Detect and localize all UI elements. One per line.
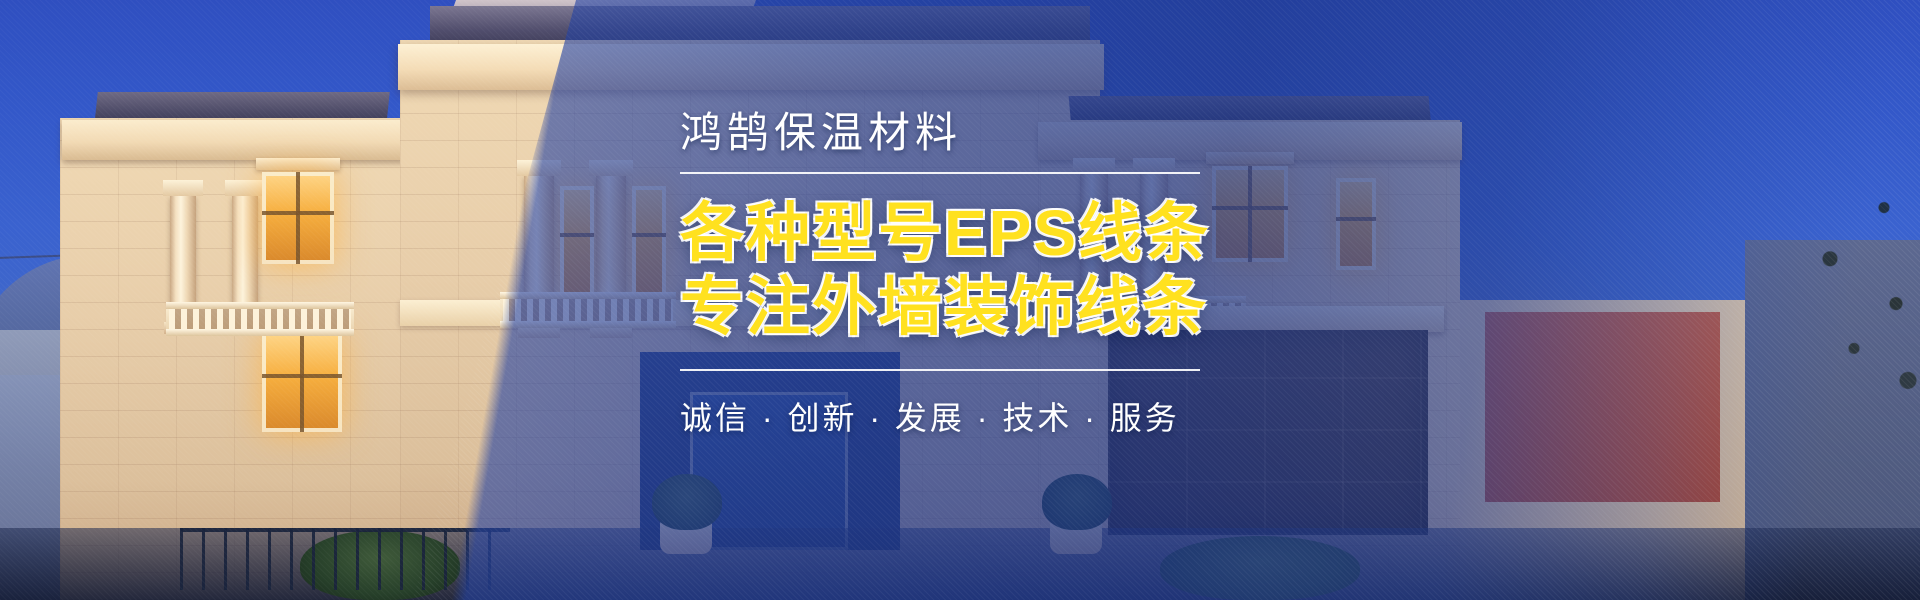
- banner-copy: 鸿鹄保温材料 各种型号EPS线条 专注外墙装饰线条 诚信 · 创新 · 发展 ·…: [680, 110, 1240, 439]
- tagline: 诚信 · 创新 · 发展 · 技术 · 服务: [680, 393, 1240, 439]
- window-mullion-vertical: [296, 172, 300, 264]
- divider-bottom: [680, 369, 1200, 371]
- window-mullion-horizontal: [262, 374, 342, 378]
- left-wing-cornice: [62, 120, 424, 160]
- balusters: [169, 309, 351, 329]
- window: [262, 332, 342, 432]
- window-mullion-vertical: [300, 332, 304, 432]
- window-mullion-horizontal: [262, 211, 334, 215]
- divider-top: [680, 172, 1200, 174]
- balustrade-rail-bottom: [166, 329, 354, 336]
- window-hood: [256, 158, 340, 170]
- brand-name: 鸿鹄保温材料: [680, 110, 1240, 156]
- balustrade: [166, 302, 354, 336]
- headline-line-1: 各种型号EPS线条: [680, 196, 1240, 270]
- balustrade-rail-top: [166, 302, 354, 309]
- window: [262, 172, 334, 264]
- promo-banner: 鸿鹄保温材料 各种型号EPS线条 专注外墙装饰线条 诚信 · 创新 · 发展 ·…: [0, 0, 1920, 600]
- headline-line-2: 专注外墙装饰线条: [680, 270, 1240, 344]
